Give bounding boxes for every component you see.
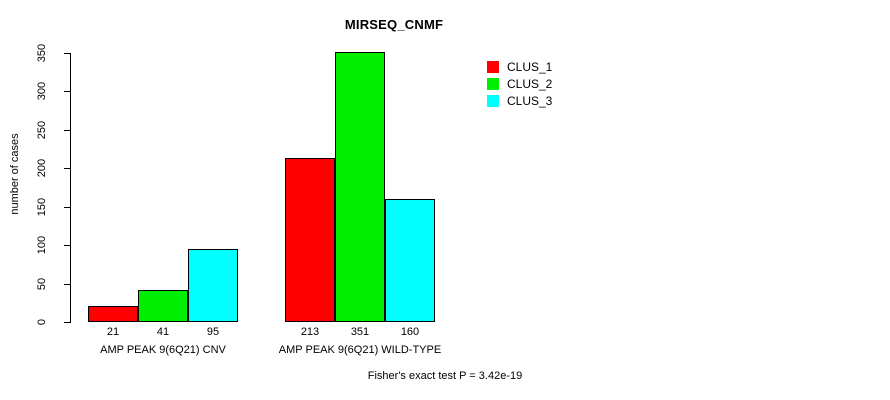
chart-canvas: MIRSEQ_CNMF number of cases 050100150200… [0, 0, 890, 400]
y-axis-label: number of cases [9, 104, 21, 244]
bar-value-label: 21 [88, 326, 138, 338]
y-axis-tick-label: 250 [34, 110, 50, 150]
statistic-note: Fisher's exact test P = 3.42e-19 [0, 370, 890, 382]
y-axis-tick-label: 0 [34, 302, 50, 342]
y-axis-tick-label: 150 [34, 187, 50, 227]
y-axis-tick-label: 100 [34, 225, 50, 265]
legend-swatch-icon [487, 61, 499, 73]
y-axis-tick-mark [64, 245, 70, 246]
x-axis-group-label: AMP PEAK 9(6Q21) WILD-TYPE [225, 344, 495, 356]
y-axis-tick-mark [64, 207, 70, 208]
y-axis-tick-mark [64, 53, 70, 54]
y-axis-tick-mark [64, 168, 70, 169]
y-axis-tick-label: 350 [34, 33, 50, 73]
bar-value-label: 95 [188, 326, 238, 338]
y-axis-line [70, 53, 71, 323]
bar-clus-2-group-2 [335, 52, 385, 322]
y-axis-tick-mark [64, 91, 70, 92]
bar-value-label: 41 [138, 326, 188, 338]
y-axis-tick-mark [64, 130, 70, 131]
legend-label: CLUS_1 [507, 59, 552, 75]
legend-label: CLUS_2 [507, 76, 552, 92]
bar-clus-3-group-1 [188, 249, 238, 322]
bar-value-label: 351 [335, 326, 385, 338]
y-axis-tick-label: 300 [34, 71, 50, 111]
bar-value-label: 213 [285, 326, 335, 338]
y-axis-tick-mark [64, 284, 70, 285]
bar-clus-3-group-2 [385, 199, 435, 322]
page-title: MIRSEQ_CNMF [0, 17, 890, 32]
legend-label: CLUS_3 [507, 93, 552, 109]
y-axis-tick-mark [64, 322, 70, 323]
bar-value-label: 160 [385, 326, 435, 338]
y-axis-tick-label: 50 [34, 264, 50, 304]
bar-clus-1-group-1 [88, 306, 138, 322]
bar-clus-2-group-1 [138, 290, 188, 322]
y-axis-tick-label: 200 [34, 148, 50, 188]
legend-swatch-icon [487, 78, 499, 90]
bar-clus-1-group-2 [285, 158, 335, 322]
legend-swatch-icon [487, 95, 499, 107]
